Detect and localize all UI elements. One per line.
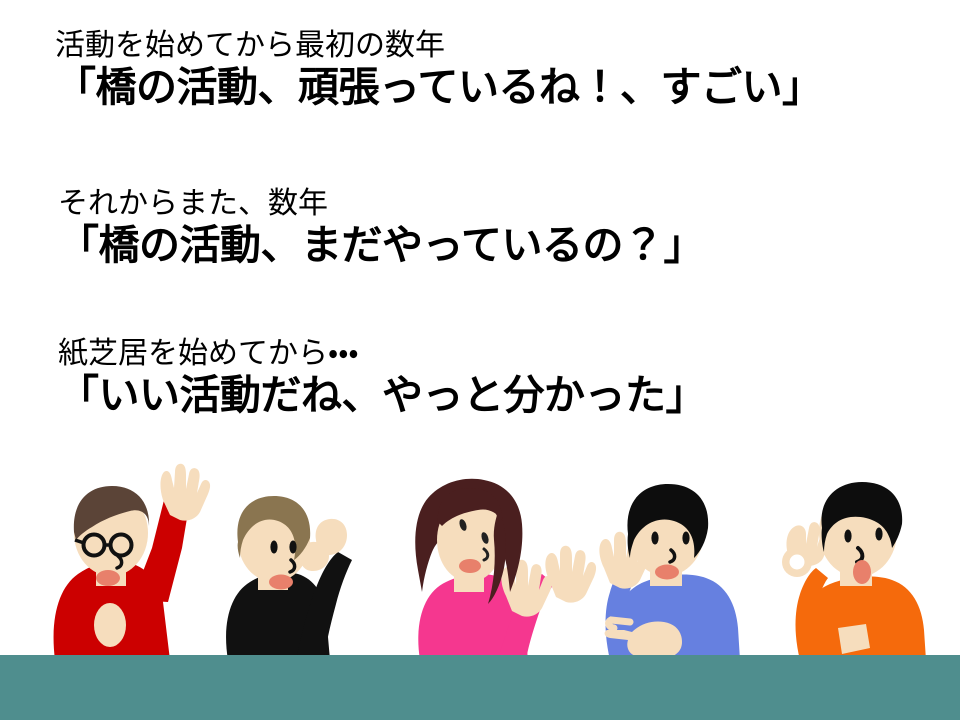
person-red-glasses-hair <box>74 486 149 540</box>
person-blue-sweater-body <box>609 575 740 660</box>
person-black-sweater-fist <box>300 519 347 571</box>
person-black-sweater-arm <box>296 552 352 660</box>
person-orange-sweater-arm <box>796 568 829 660</box>
person-red-glasses-hand <box>160 464 210 521</box>
person-pink-sweater-arm <box>498 574 554 660</box>
text-block-2-bold-line: 「橋の活動、まだやっているの？」 <box>58 221 704 269</box>
person-black-sweater-body <box>226 572 330 660</box>
person-blue-sweater-mouth <box>655 565 679 580</box>
person-orange-sweater-mouth <box>853 560 871 584</box>
person-red-glasses-collar <box>94 603 126 647</box>
text-block-2-plain-line: それからまた、数年 <box>58 186 704 221</box>
person-blue-sweater <box>599 484 740 660</box>
person-red-glasses-mouth <box>96 570 120 586</box>
text-block-3-plain-line: 紙芝居を始めてから・・・ <box>58 336 706 371</box>
round-glasses-icon <box>75 535 132 556</box>
text-block-1-plain-line: 活動を始めてから最初の数年 <box>55 28 822 63</box>
slide-canvas: 活動を始めてから最初の数年 「橋の活動、頑張っているね！、すごい」 それからまた… <box>0 0 960 720</box>
person-black-sweater <box>226 496 352 660</box>
person-black-sweater-mouth <box>269 575 293 590</box>
person-red-glasses-head <box>74 490 148 576</box>
person-pink-sweater-hair <box>415 479 522 592</box>
person-orange-sweater-collar <box>838 624 870 654</box>
text-block-2: それからまた、数年 「橋の活動、まだやっているの？」 <box>58 186 704 270</box>
person-orange-sweater-head <box>819 487 897 577</box>
person-blue-sweater-hair <box>627 484 708 558</box>
person-red-glasses-body <box>54 562 170 661</box>
person-blue-sweater-arm <box>606 564 639 660</box>
text-block-3: 紙芝居を始めてから・・・ 「いい活動だね、やっと分かった」 <box>58 336 706 420</box>
person-red-glasses-arm <box>132 492 190 602</box>
person-black-sweater-hair <box>237 496 310 560</box>
person-pink-sweater-head <box>437 498 503 582</box>
person-orange-sweater <box>782 482 926 660</box>
table-bar <box>0 655 960 720</box>
text-block-1-bold-line: 「橋の活動、頑張っているね！、すごい」 <box>55 63 822 111</box>
person-blue-sweater-hand-up <box>599 532 650 589</box>
person-orange-sweater-body <box>798 577 926 660</box>
person-pink-sweater <box>415 479 596 660</box>
person-black-sweater-head <box>238 498 310 582</box>
person-pink-sweater-hand-left <box>501 560 552 617</box>
person-pink-sweater-mouth <box>459 559 481 573</box>
ok-sign-hand <box>782 522 830 577</box>
person-pink-sweater-body <box>418 574 528 660</box>
person-blue-sweater-hand-belly <box>605 620 682 658</box>
person-red-glasses <box>54 464 211 660</box>
text-block-1: 活動を始めてから最初の数年 「橋の活動、頑張っているね！、すごい」 <box>55 28 822 112</box>
person-pink-sweater-hand-right <box>545 546 596 603</box>
person-orange-sweater-hair <box>821 482 902 552</box>
person-blue-sweater-head <box>628 488 704 576</box>
text-block-3-bold-line: 「いい活動だね、やっと分かった」 <box>58 371 706 419</box>
